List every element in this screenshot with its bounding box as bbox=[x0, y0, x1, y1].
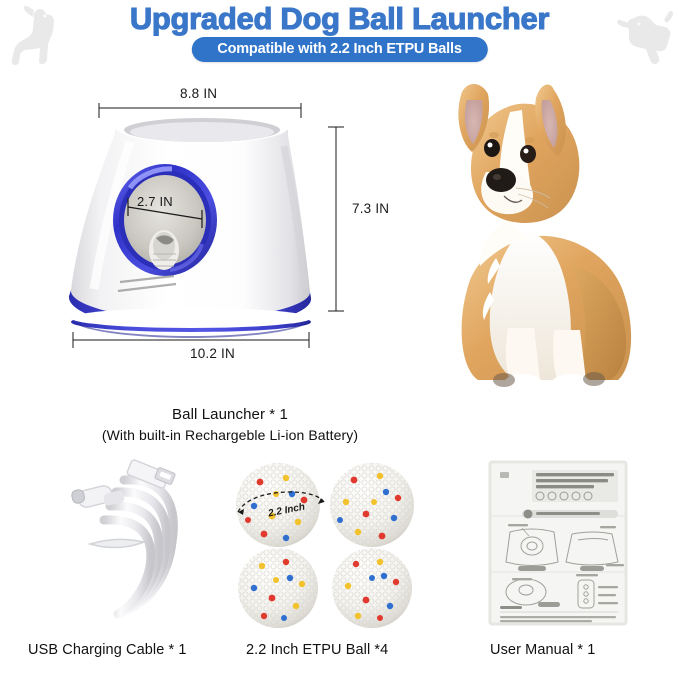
launcher-dimension-diagram: 8.8 IN 10.2 IN 7.3 IN 2.7 IN bbox=[52, 84, 402, 374]
dimension-label-width-bottom: 10.2 IN bbox=[190, 346, 235, 361]
etpu-balls-image bbox=[228, 458, 428, 628]
ball-item bbox=[332, 548, 412, 628]
page-title: Upgraded Dog Ball Launcher bbox=[0, 2, 679, 36]
main-caption-line-1: Ball Launcher * 1 bbox=[0, 404, 460, 425]
main-product-caption: Ball Launcher * 1 (With built-in Recharg… bbox=[0, 404, 460, 445]
dimension-label-opening: 2.7 IN bbox=[137, 194, 173, 209]
launcher-device bbox=[69, 113, 311, 338]
dimension-label-width-top: 8.8 IN bbox=[180, 86, 217, 101]
compatibility-badge: Compatible with 2.2 Inch ETPU Balls bbox=[191, 37, 487, 62]
accessory-caption-cable: USB Charging Cable * 1 bbox=[28, 642, 187, 658]
ball-item bbox=[238, 548, 318, 628]
dimension-label-height: 7.3 IN bbox=[352, 201, 389, 216]
main-caption-line-2: (With built-in Rechargeble Li-ion Batter… bbox=[0, 425, 460, 445]
corgi-dog-photo bbox=[404, 80, 676, 398]
accessory-caption-balls: 2.2 Inch ETPU Ball *4 bbox=[246, 642, 388, 658]
user-manual-image bbox=[482, 458, 637, 628]
ball-item bbox=[330, 463, 414, 547]
accessory-caption-manual: User Manual * 1 bbox=[490, 642, 595, 658]
dimension-height bbox=[328, 127, 344, 311]
dog-jumping-silhouette-icon bbox=[615, 2, 677, 68]
usb-charging-cable-image bbox=[56, 458, 226, 628]
header-banner: Upgraded Dog Ball Launcher Compatible wi… bbox=[0, 0, 679, 78]
